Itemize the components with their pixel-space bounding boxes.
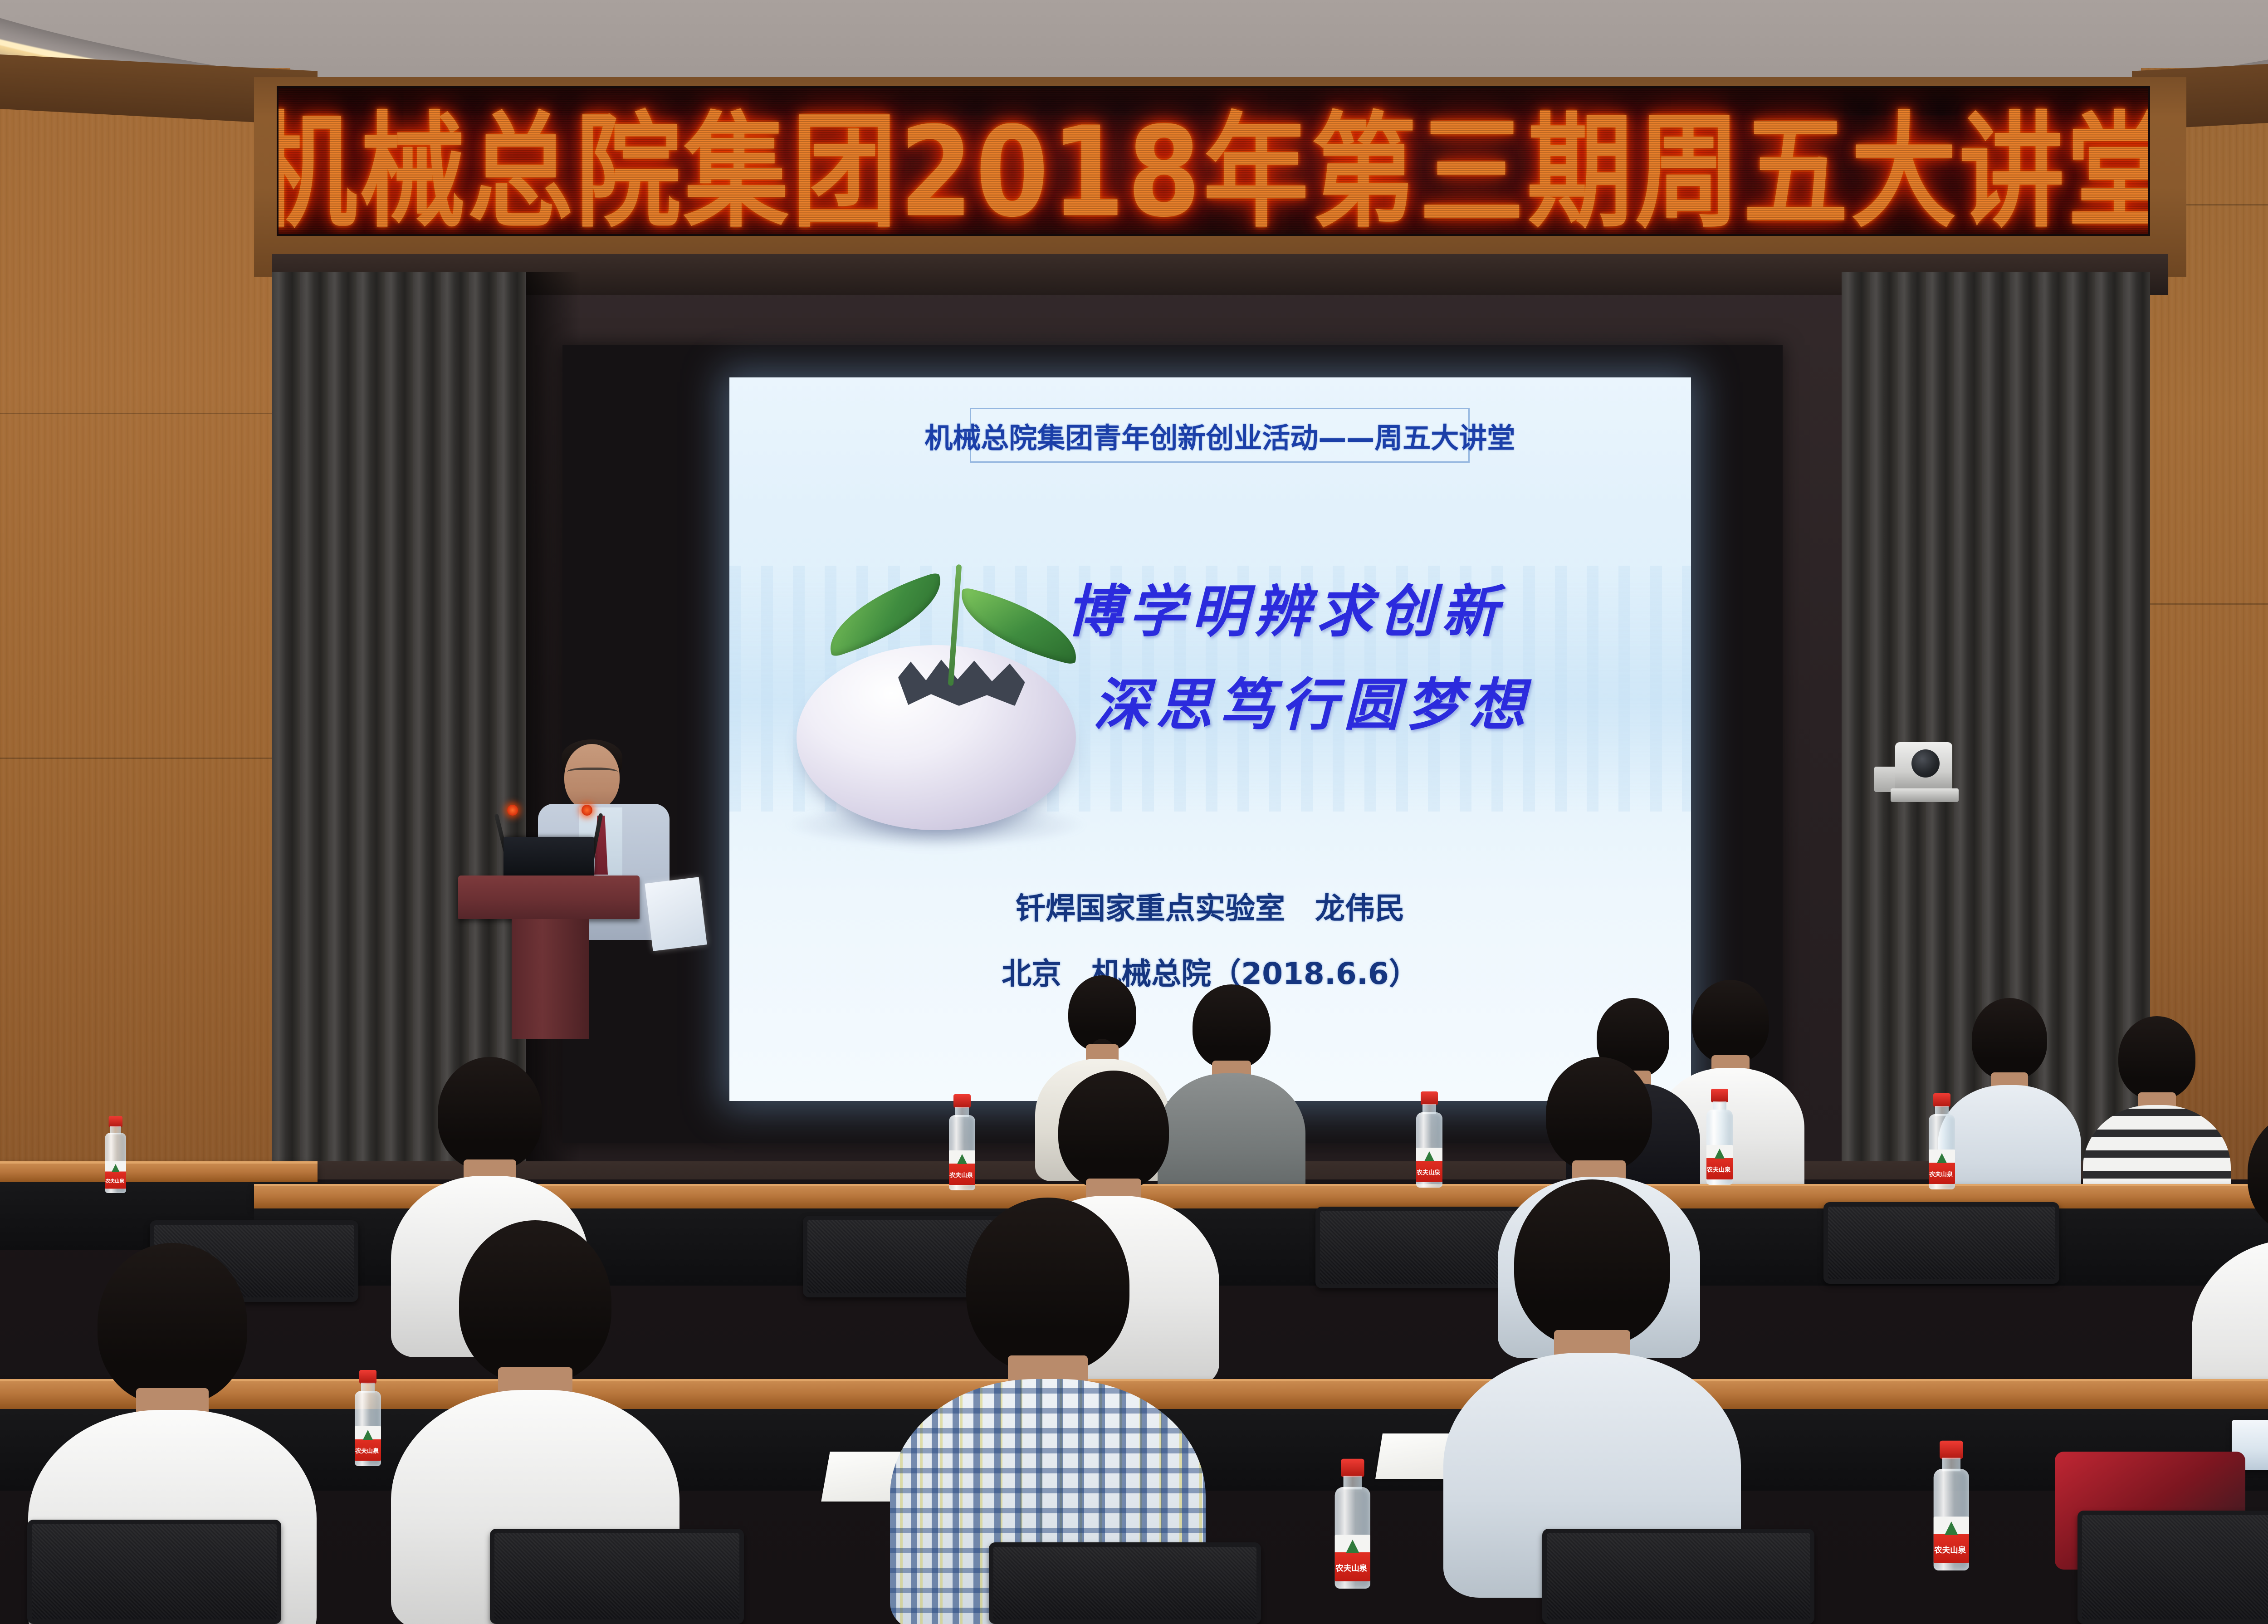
water-bottle: 农夫山泉 xyxy=(1415,1091,1443,1188)
wood-wall-left xyxy=(0,68,290,1202)
wall-seam xyxy=(2141,603,2268,605)
head xyxy=(1692,980,1769,1063)
slide-title-line-2: 深思笃行圆梦想 xyxy=(1093,659,1662,741)
desk xyxy=(0,1161,318,1182)
bottle-cap xyxy=(1341,1459,1364,1477)
slide-header-text: 机械总院集团青年创新创业活动——周五大讲堂 xyxy=(924,415,1515,456)
slide-egg-sprout-graphic xyxy=(777,558,1095,848)
slide-footer-line-1: 钎焊国家重点实验室 龙伟民 xyxy=(1016,884,1405,928)
bottle-cap xyxy=(359,1370,376,1384)
bottle-cap xyxy=(109,1116,122,1127)
spring-tree-icon xyxy=(1937,1153,1947,1163)
speaker-papers xyxy=(645,877,707,951)
attendee-row3-glasses xyxy=(1937,998,2082,1202)
spring-tree-icon xyxy=(1945,1521,1958,1535)
slide-title-line-1: 博学明辨求创新 xyxy=(1066,566,1662,647)
head xyxy=(1193,984,1271,1069)
head xyxy=(98,1243,247,1404)
bottle-brand-text: 农夫山泉 xyxy=(1334,1562,1369,1574)
podium xyxy=(458,876,640,1039)
bottle-brand-text: 农夫山泉 xyxy=(1932,1544,1968,1556)
water-bottle: 农夫山泉 xyxy=(1334,1459,1372,1589)
bottle-brand-text: 农夫山泉 xyxy=(948,1170,974,1179)
chair[interactable] xyxy=(2077,1511,2268,1624)
led-banner-text: 机械总院集团2018年第三期周五大讲堂 xyxy=(277,86,2150,236)
spring-tree-icon xyxy=(957,1154,967,1164)
head xyxy=(1058,1071,1169,1190)
head xyxy=(1546,1057,1652,1171)
attendee-front-blue xyxy=(1442,1179,1742,1588)
bottle-brand-text: 农夫山泉 xyxy=(104,1177,125,1184)
spring-tree-icon xyxy=(112,1164,120,1172)
bottle-cap xyxy=(1711,1089,1728,1102)
bottle-cap xyxy=(1421,1091,1438,1105)
ptz-camera-lens xyxy=(1911,749,1940,778)
spring-tree-icon xyxy=(1424,1151,1434,1161)
bottle-brand-text: 农夫山泉 xyxy=(1928,1169,1954,1178)
podium-laptop xyxy=(503,837,594,879)
glasses-icon xyxy=(567,768,618,778)
chair[interactable] xyxy=(27,1520,281,1624)
head xyxy=(1972,998,2047,1080)
spring-tree-icon xyxy=(1715,1149,1725,1159)
head xyxy=(1514,1179,1670,1346)
water-bottle: 农夫山泉 xyxy=(1706,1089,1734,1185)
bottle-brand-text: 农夫山泉 xyxy=(1415,1168,1442,1176)
wall-seam xyxy=(0,758,290,759)
ptz-camera-base xyxy=(1891,788,1959,802)
head xyxy=(2118,1016,2195,1100)
chair[interactable] xyxy=(1823,1202,2059,1284)
spring-tree-icon xyxy=(1346,1540,1359,1553)
head xyxy=(966,1198,1129,1373)
water-bottle: 农夫山泉 xyxy=(354,1370,382,1466)
microphone-indicator-left xyxy=(507,805,518,816)
head xyxy=(2248,1111,2268,1234)
water-bottle: 农夫山泉 xyxy=(104,1116,127,1193)
podium-top xyxy=(458,876,640,919)
led-marquee-banner: 机械总院集团2018年第三期周五大讲堂 xyxy=(277,86,2150,236)
podium-column xyxy=(512,919,589,1039)
microphone-indicator-right xyxy=(582,805,592,816)
slide-header-box: 机械总院集团青年创新创业活动——周五大讲堂 xyxy=(970,408,1470,463)
wall-seam xyxy=(0,413,290,414)
water-bottle: 农夫山泉 xyxy=(948,1094,976,1190)
slide-footer-block: 钎焊国家重点实验室 龙伟民 北京 机械总院（2018.6.6） xyxy=(826,884,1595,993)
bottle-brand-text: 农夫山泉 xyxy=(354,1446,380,1455)
head xyxy=(438,1057,542,1170)
water-bottle: 农夫山泉 xyxy=(1928,1093,1956,1189)
lecture-hall-photo: 机械总院集团2018年第三期周五大讲堂 机械总院集团青年创新创业活动——周五大讲… xyxy=(0,0,2268,1624)
bottle-brand-text: 农夫山泉 xyxy=(1706,1165,1732,1174)
spring-tree-icon xyxy=(363,1430,373,1440)
chair[interactable] xyxy=(1542,1529,1814,1624)
water-bottle: 农夫山泉 xyxy=(1932,1441,1970,1570)
bottle-cap xyxy=(953,1094,971,1108)
chair[interactable] xyxy=(490,1529,744,1624)
bottle-cap xyxy=(1933,1093,1950,1107)
slide-title-block: 博学明辨求创新 深思笃行圆梦想 xyxy=(1066,566,1662,741)
chair[interactable] xyxy=(989,1542,1261,1624)
head xyxy=(459,1220,611,1384)
bottle-cap xyxy=(1940,1441,1963,1459)
